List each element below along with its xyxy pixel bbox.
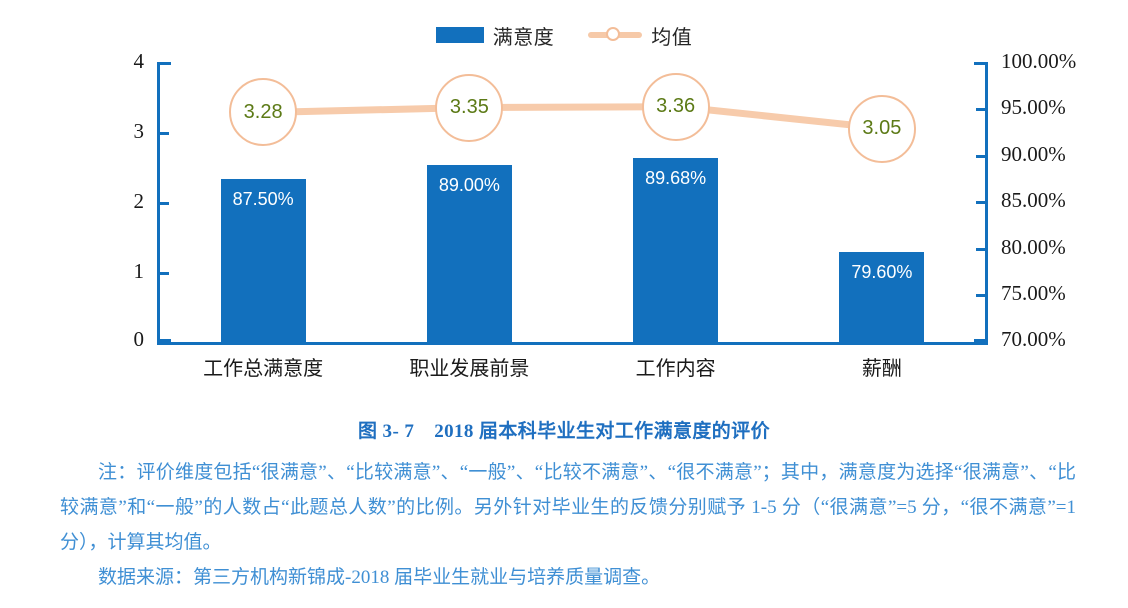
right-axis-tick-label: 80.00%	[1001, 235, 1066, 260]
right-axis-tick	[976, 248, 985, 251]
legend-item-mean: 均值	[588, 21, 692, 50]
mean-value-label: 3.28	[244, 101, 283, 124]
left-axis-tick	[160, 132, 169, 135]
x-axis-category-label-1: 职业发展前景	[359, 352, 579, 381]
figure-caption: 图 3- 72018 届本科毕业生对工作满意度的评价	[0, 416, 1128, 443]
mean-marker-2[interactable]: 3.36	[642, 73, 710, 141]
legend-item-satisfaction: 满意度	[436, 21, 555, 50]
left-axis-tick	[160, 202, 169, 205]
left-axis-cap-top	[160, 62, 171, 65]
line-marker-swatch-icon	[588, 26, 642, 44]
x-axis-category-label-0: 工作总满意度	[153, 352, 373, 381]
right-axis-tick-label: 95.00%	[1001, 95, 1066, 120]
mean-marker-1[interactable]: 3.35	[435, 74, 503, 142]
left-axis-tick	[160, 272, 169, 275]
right-axis-tick	[976, 108, 985, 111]
figure-notes: 注：评价维度包括“很满意”、“比较满意”、“一般”、“比较不满意”、“很不满意”…	[60, 455, 1076, 595]
left-axis-tick-label: 4	[134, 49, 145, 74]
mean-value-label: 3.05	[862, 117, 901, 140]
chart-figure: 满意度 均值 4 3 2 1 0	[0, 0, 1128, 400]
figure-caption-text: 2018 届本科毕业生对工作满意度的评价	[434, 421, 770, 442]
right-axis-tick	[976, 201, 985, 204]
figure-number: 图 3- 7	[358, 421, 414, 442]
legend-item-label: 均值	[651, 21, 692, 50]
right-axis-line	[985, 62, 988, 342]
left-axis-tick-label: 0	[134, 327, 145, 352]
bottom-axis-line	[157, 342, 988, 345]
right-axis-tick-label: 75.00%	[1001, 281, 1066, 306]
bar-satisfaction-2[interactable]: 89.68%	[633, 158, 718, 342]
left-axis-cap-bottom	[160, 339, 171, 342]
left-axis-tick-label: 2	[134, 189, 145, 214]
left-axis-tick-label: 3	[134, 119, 145, 144]
legend-item-label: 满意度	[493, 21, 555, 50]
chart-legend: 满意度 均值	[0, 18, 1128, 52]
x-axis-category-label-2: 工作内容	[566, 352, 786, 381]
bar-satisfaction-1[interactable]: 89.00%	[427, 165, 512, 342]
bar-value-label: 87.50%	[221, 189, 306, 210]
bar-swatch-icon	[436, 27, 484, 43]
right-axis-tick-label: 100.00%	[1001, 49, 1076, 74]
bar-satisfaction-3[interactable]: 79.60%	[839, 252, 924, 342]
right-axis-tick-label: 85.00%	[1001, 188, 1066, 213]
mean-marker-3[interactable]: 3.05	[848, 95, 916, 163]
bar-value-label: 79.60%	[839, 262, 924, 283]
bar-value-label: 89.68%	[633, 168, 718, 189]
right-axis-cap-top	[974, 62, 985, 65]
mean-value-label: 3.35	[450, 96, 489, 119]
note-text: 注：评价维度包括“很满意”、“比较满意”、“一般”、“比较不满意”、“很不满意”…	[60, 455, 1076, 560]
right-axis-tick-label: 70.00%	[1001, 327, 1066, 352]
bar-value-label: 89.00%	[427, 175, 512, 196]
right-axis-tick	[976, 294, 985, 297]
mean-value-label: 3.36	[656, 95, 695, 118]
right-axis-cap-bottom	[974, 339, 985, 342]
mean-marker-0[interactable]: 3.28	[229, 78, 297, 146]
bar-satisfaction-0[interactable]: 87.50%	[221, 179, 306, 342]
x-axis-category-label-3: 薪酬	[772, 352, 992, 381]
plot-area: 4 3 2 1 0 100.00% 95.00% 90.00% 85.00% 8…	[160, 62, 985, 342]
right-axis-tick-label: 90.00%	[1001, 142, 1066, 167]
right-axis-tick	[976, 155, 985, 158]
left-axis-tick-label: 1	[134, 259, 145, 284]
note-source: 数据来源：第三方机构新锦成-2018 届毕业生就业与培养质量调查。	[60, 560, 1076, 595]
